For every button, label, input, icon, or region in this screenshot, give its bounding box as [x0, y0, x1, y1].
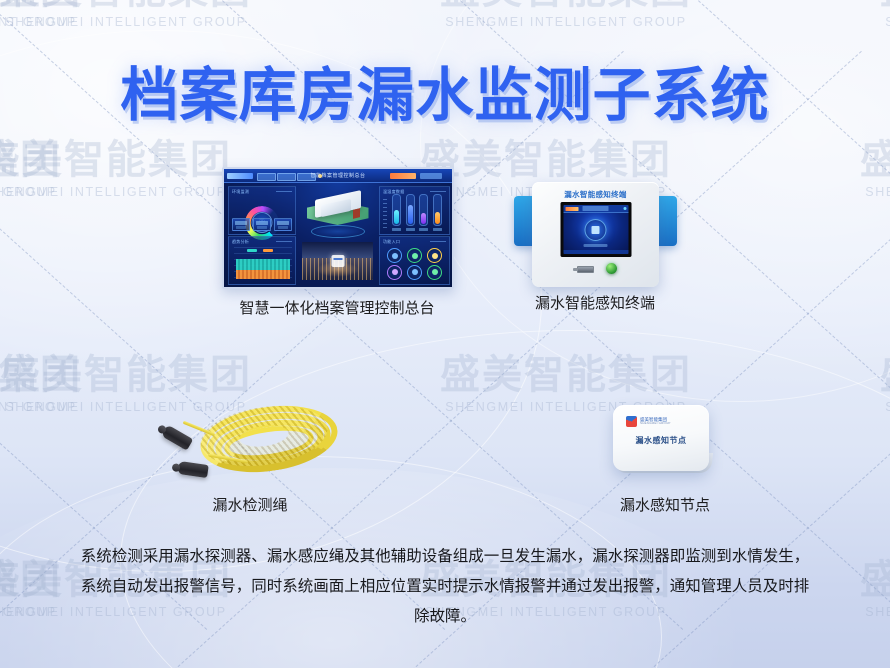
panel-rule — [276, 241, 292, 242]
brand-mark-icon — [626, 416, 637, 427]
dashboard-nav-button-2[interactable] — [277, 173, 296, 181]
dashboard-nav-button-1[interactable] — [257, 173, 276, 181]
poster-page: 盛美智能集团SHENGMEI INTELLIGENT GROUP盛美智能集团SH… — [0, 0, 890, 668]
page-title-text: 档案库房漏水监测子系统 — [120, 48, 769, 132]
stat-card-1[interactable] — [232, 218, 250, 231]
stacked-area-chart — [236, 259, 290, 281]
node-brand-text: 盛美智能集团 SHENGMEI GROUP — [640, 417, 671, 426]
product-image-console: 智能档案管理控制总台 环境监测 86 — [222, 167, 454, 289]
terminal-screen-logo-icon — [565, 207, 578, 211]
tube-bar-2 — [406, 194, 415, 226]
dashboard-user-badge[interactable] — [420, 173, 442, 179]
terminal-screen-ui — [563, 205, 628, 254]
node-device-label: 漏水感知节点 — [613, 435, 709, 446]
model-3d-icon — [307, 193, 369, 225]
terminal-screen-title — [583, 206, 609, 211]
product-image-terminal: 漏水智能感知终端 — [514, 182, 677, 287]
node-brand-en: SHENGMEI GROUP — [640, 422, 671, 426]
terminal-screen-main-icon — [585, 219, 607, 241]
panel-title-icons: 功能入口 — [383, 239, 400, 245]
tube-bar-3 — [419, 194, 428, 226]
wave-legend — [247, 249, 273, 252]
terminal-screen-footer — [563, 250, 628, 254]
panel-rule — [430, 191, 446, 192]
cable-connector-2 — [177, 461, 209, 478]
node-body: 盛美智能集团 SHENGMEI GROUP 漏水感知节点 — [613, 405, 709, 471]
dashboard-panel-icons: 功能入口 — [379, 236, 450, 285]
panel-title-wave: 趋势分析 — [232, 239, 249, 245]
function-icon-6[interactable] — [427, 265, 442, 280]
area-series-1 — [236, 259, 290, 270]
tube-bar-chart — [390, 199, 444, 226]
page-title: 档案库房漏水监测子系统 — [0, 48, 890, 132]
terminal-screen[interactable] — [560, 202, 631, 257]
terminal-power-button[interactable] — [606, 263, 617, 274]
video-feed[interactable] — [302, 242, 373, 280]
dashboard-logo-icon — [227, 173, 253, 179]
terminal-port-icon — [577, 266, 594, 273]
function-icon-4[interactable] — [387, 265, 402, 280]
dashboard-panel-wave: 趋势分析 — [228, 236, 296, 285]
caption-cable: 漏水检测绳 — [150, 494, 350, 515]
product-image-node: 盛美智能集团 SHENGMEI GROUP 漏水感知节点 — [613, 405, 717, 487]
stat-card-2[interactable] — [253, 218, 271, 231]
terminal-body: 漏水智能感知终端 — [532, 182, 659, 287]
function-icon-5[interactable] — [407, 265, 422, 280]
description-paragraph: 系统检测采用漏水探测器、漏水感应绳及其他辅助设备组成一旦发生漏水，漏水探测器即监… — [78, 542, 812, 632]
node-brand-logo: 盛美智能集团 SHENGMEI GROUP — [626, 416, 671, 427]
cable-connector-1 — [161, 424, 193, 450]
tube-bar-4 — [433, 194, 442, 226]
video-overlay-icon — [331, 255, 344, 267]
terminal-screen-header — [563, 205, 628, 213]
bars-axis — [383, 199, 387, 226]
terminal-screen-status-icon — [623, 207, 626, 210]
dashboard-panel-model — [297, 186, 378, 235]
product-image-cable — [160, 405, 340, 485]
caption-terminal: 漏水智能感知终端 — [480, 292, 710, 313]
panel-rule — [276, 191, 292, 192]
function-icon-1[interactable] — [387, 248, 402, 263]
dashboard-header: 智能档案管理控制总台 — [224, 169, 452, 183]
icon-grid — [385, 248, 444, 280]
caption-node: 漏水感知节点 — [560, 494, 770, 515]
dashboard-panel-bars: 温湿度数据 — [379, 186, 450, 235]
terminal-screen-caption-bar — [584, 244, 608, 247]
gauge-stat-row — [232, 218, 292, 231]
panel-rule — [430, 241, 446, 242]
function-icon-3[interactable] — [427, 248, 442, 263]
caption-console: 智慧一体化档案管理控制总台 — [182, 297, 492, 318]
panel-title-gauge: 环境监测 — [232, 189, 249, 195]
stat-card-3[interactable] — [274, 218, 292, 231]
dashboard-panel-gauge: 环境监测 86 — [228, 186, 296, 235]
function-icon-2[interactable] — [407, 248, 422, 263]
tube-bar-1 — [392, 194, 401, 226]
dashboard-alarm-badge — [390, 173, 416, 179]
terminal-device-label: 漏水智能感知终端 — [532, 189, 659, 200]
model-block-accent — [353, 208, 360, 219]
area-series-2 — [236, 270, 290, 279]
dashboard-screen: 智能档案管理控制总台 环境监测 86 — [224, 169, 452, 287]
dashboard-panel-video — [297, 236, 378, 285]
dashboard-title: 智能档案管理控制总台 — [310, 172, 365, 179]
